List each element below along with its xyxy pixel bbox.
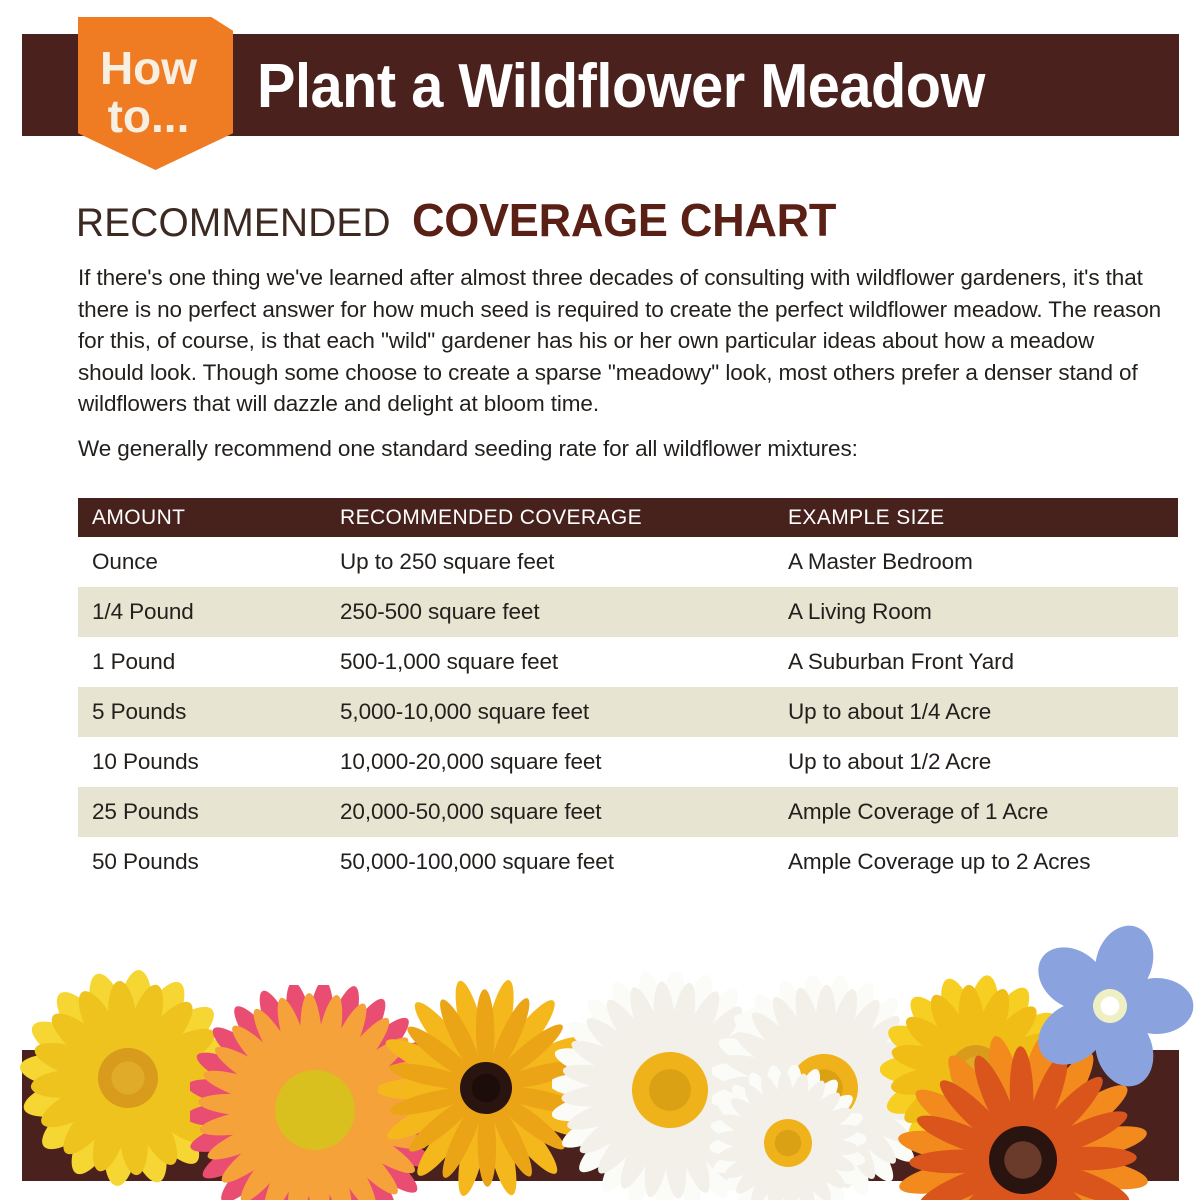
section-title: RECOMMENDEDCOVERAGE CHART xyxy=(76,196,845,256)
coverage-table: AMOUNTRECOMMENDED COVERAGEEXAMPLE SIZEOu… xyxy=(78,498,1178,887)
footer-band xyxy=(22,1050,1179,1181)
table-cell: A Master Bedroom xyxy=(788,537,1168,587)
table-cell: 1 Pound xyxy=(92,637,340,687)
column-header-0: AMOUNT xyxy=(92,498,340,537)
table-cell: A Suburban Front Yard xyxy=(788,637,1168,687)
column-header-1: RECOMMENDED COVERAGE xyxy=(340,498,788,537)
column-header-2: EXAMPLE SIZE xyxy=(788,498,1168,537)
table-cell: 25 Pounds xyxy=(92,787,340,837)
table-cell: 50,000-100,000 square feet xyxy=(340,837,788,887)
intro-paragraph: If there's one thing we've learned after… xyxy=(78,262,1163,420)
section-title-light: RECOMMENDED xyxy=(76,199,391,247)
table-header-row: AMOUNTRECOMMENDED COVERAGEEXAMPLE SIZE xyxy=(78,498,1178,537)
table-cell: Ample Coverage of 1 Acre xyxy=(788,787,1168,837)
table-cell: 50 Pounds xyxy=(92,837,340,887)
table-cell: 5,000-10,000 square feet xyxy=(340,687,788,737)
table-cell: 1/4 Pound xyxy=(92,587,340,637)
intro-note: We generally recommend one standard seed… xyxy=(78,433,1163,465)
table-cell: Up to about 1/2 Acre xyxy=(788,737,1168,787)
table-cell: Up to about 1/4 Acre xyxy=(788,687,1168,737)
table-row: 50 Pounds50,000-100,000 square feetAmple… xyxy=(78,837,1178,887)
section-title-bold: COVERAGE CHART xyxy=(412,196,836,244)
table-row: 10 Pounds10,000-20,000 square feetUp to … xyxy=(78,737,1178,787)
ribbon-line-1: How xyxy=(78,45,233,91)
table-cell: 500-1,000 square feet xyxy=(340,637,788,687)
infographic-page: Plant a Wildflower Meadow How to... RECO… xyxy=(0,0,1200,1200)
how-to-ribbon: How to... xyxy=(78,17,233,170)
table-cell: 20,000-50,000 square feet xyxy=(340,787,788,837)
page-title: Plant a Wildflower Meadow xyxy=(257,48,1094,126)
table-cell: Ounce xyxy=(92,537,340,587)
table-cell: 10,000-20,000 square feet xyxy=(340,737,788,787)
table-cell: Up to 250 square feet xyxy=(340,537,788,587)
table-row: 25 Pounds20,000-50,000 square feetAmple … xyxy=(78,787,1178,837)
table-cell: 250-500 square feet xyxy=(340,587,788,637)
table-cell: 5 Pounds xyxy=(92,687,340,737)
table-row: OunceUp to 250 square feetA Master Bedro… xyxy=(78,537,1178,587)
table-row: 5 Pounds5,000-10,000 square feetUp to ab… xyxy=(78,687,1178,737)
table-row: 1 Pound500-1,000 square feetA Suburban F… xyxy=(78,637,1178,687)
ribbon-line-2: to... xyxy=(78,93,233,139)
table-row: 1/4 Pound250-500 square feetA Living Roo… xyxy=(78,587,1178,637)
table-cell: 10 Pounds xyxy=(92,737,340,787)
table-cell: Ample Coverage up to 2 Acres xyxy=(788,837,1168,887)
table-cell: A Living Room xyxy=(788,587,1168,637)
